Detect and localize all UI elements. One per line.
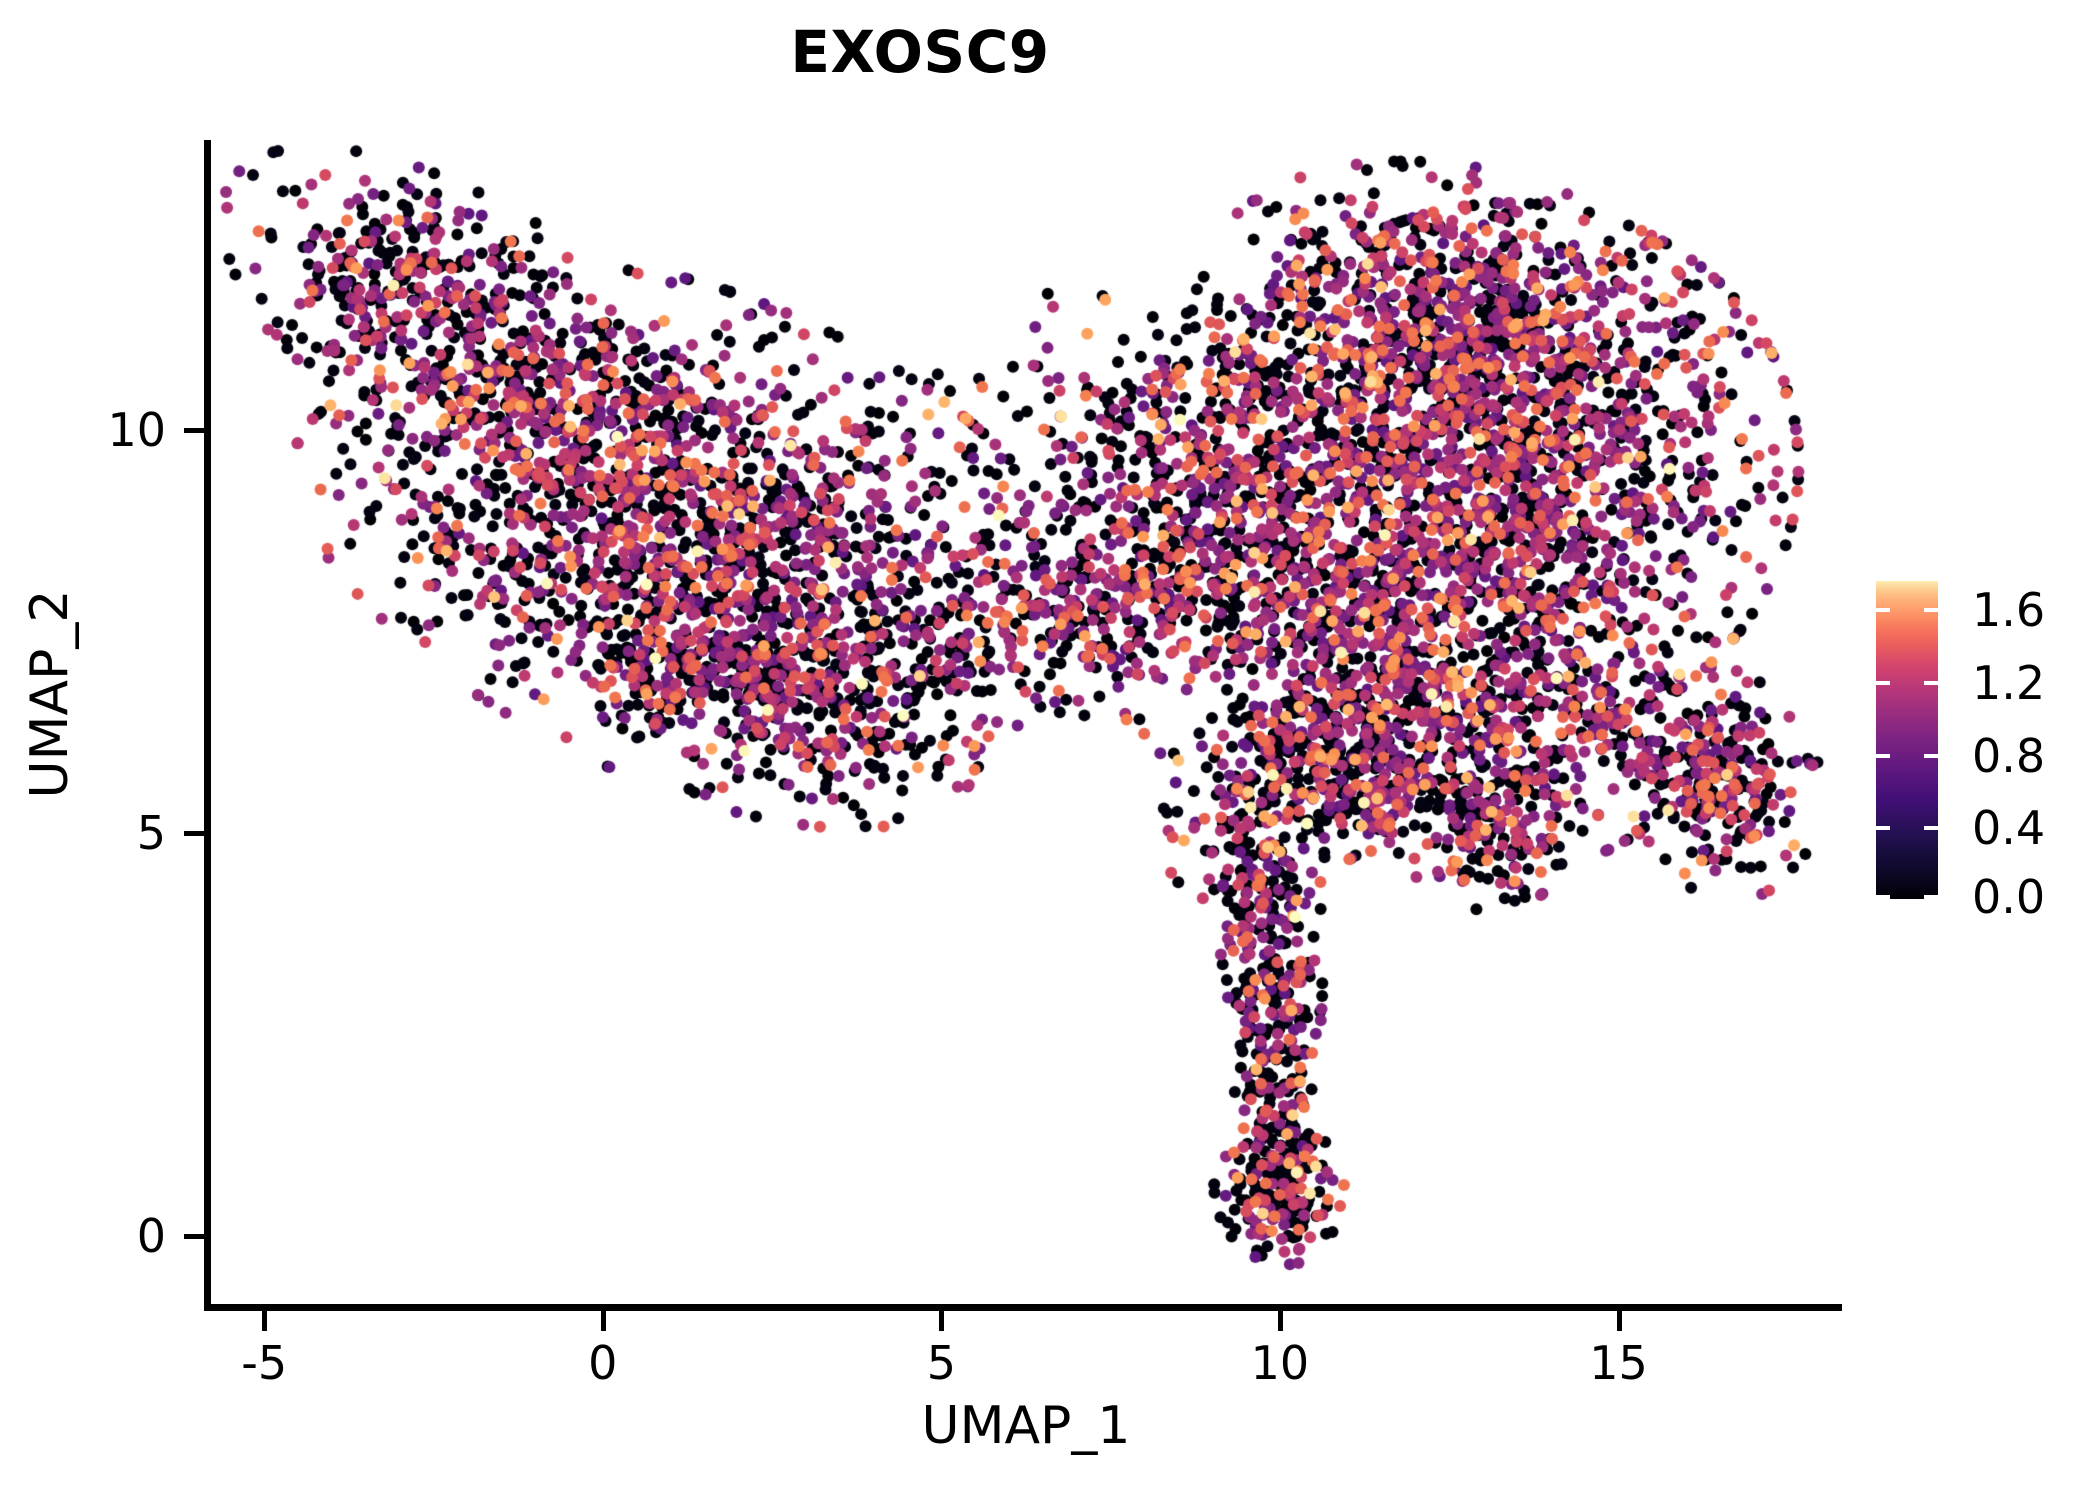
scatter-points-canvas (210, 140, 1842, 1308)
colorbar-tick-mark (1876, 608, 1890, 612)
colorbar-tick-mark (1924, 826, 1938, 830)
colorbar-tick-mark (1924, 895, 1938, 899)
x-tick-mark (262, 1311, 267, 1331)
plot-area (210, 140, 1842, 1308)
colorbar-gradient (1876, 581, 1938, 899)
x-tick-label: 5 (861, 1336, 1021, 1390)
y-axis-label: UMAP_2 (20, 110, 80, 1278)
colorbar-tick-label: 1.6 (1972, 583, 2045, 637)
colorbar-tick-mark (1876, 754, 1890, 758)
colorbar-tick-label: 1.2 (1972, 656, 2045, 710)
colorbar-tick-label: 0.8 (1972, 729, 2045, 783)
x-tick-mark (601, 1311, 606, 1331)
y-tick-mark (184, 428, 204, 433)
colorbar-tick-label: 0.4 (1972, 801, 2045, 855)
colorbar-tick-mark (1924, 681, 1938, 685)
y-tick-mark (184, 831, 204, 836)
colorbar: 0.00.40.81.21.6 (1876, 581, 1938, 899)
x-tick-mark (1617, 1311, 1622, 1331)
page-title: EXOSC9 (0, 18, 1840, 86)
colorbar-tick-mark (1924, 754, 1938, 758)
colorbar-tick-mark (1924, 608, 1938, 612)
y-tick-mark (184, 1234, 204, 1239)
x-axis-label: UMAP_1 (210, 1396, 1842, 1456)
x-tick-label: 0 (523, 1336, 683, 1390)
colorbar-tick-label: 0.0 (1972, 870, 2045, 924)
umap-feature-plot-figure: EXOSC9 -5051015 0510 UMAP_1 UMAP_2 0.00.… (0, 0, 2100, 1500)
x-axis-spine (204, 1304, 1842, 1311)
colorbar-tick-mark (1876, 895, 1890, 899)
colorbar-tick-mark (1876, 681, 1890, 685)
colorbar-tick-mark (1876, 826, 1890, 830)
x-tick-label: -5 (184, 1336, 344, 1390)
x-tick-mark (1278, 1311, 1283, 1331)
y-axis-spine (204, 140, 211, 1311)
x-tick-label: 15 (1539, 1336, 1699, 1390)
x-tick-mark (939, 1311, 944, 1331)
x-tick-label: 10 (1200, 1336, 1360, 1390)
